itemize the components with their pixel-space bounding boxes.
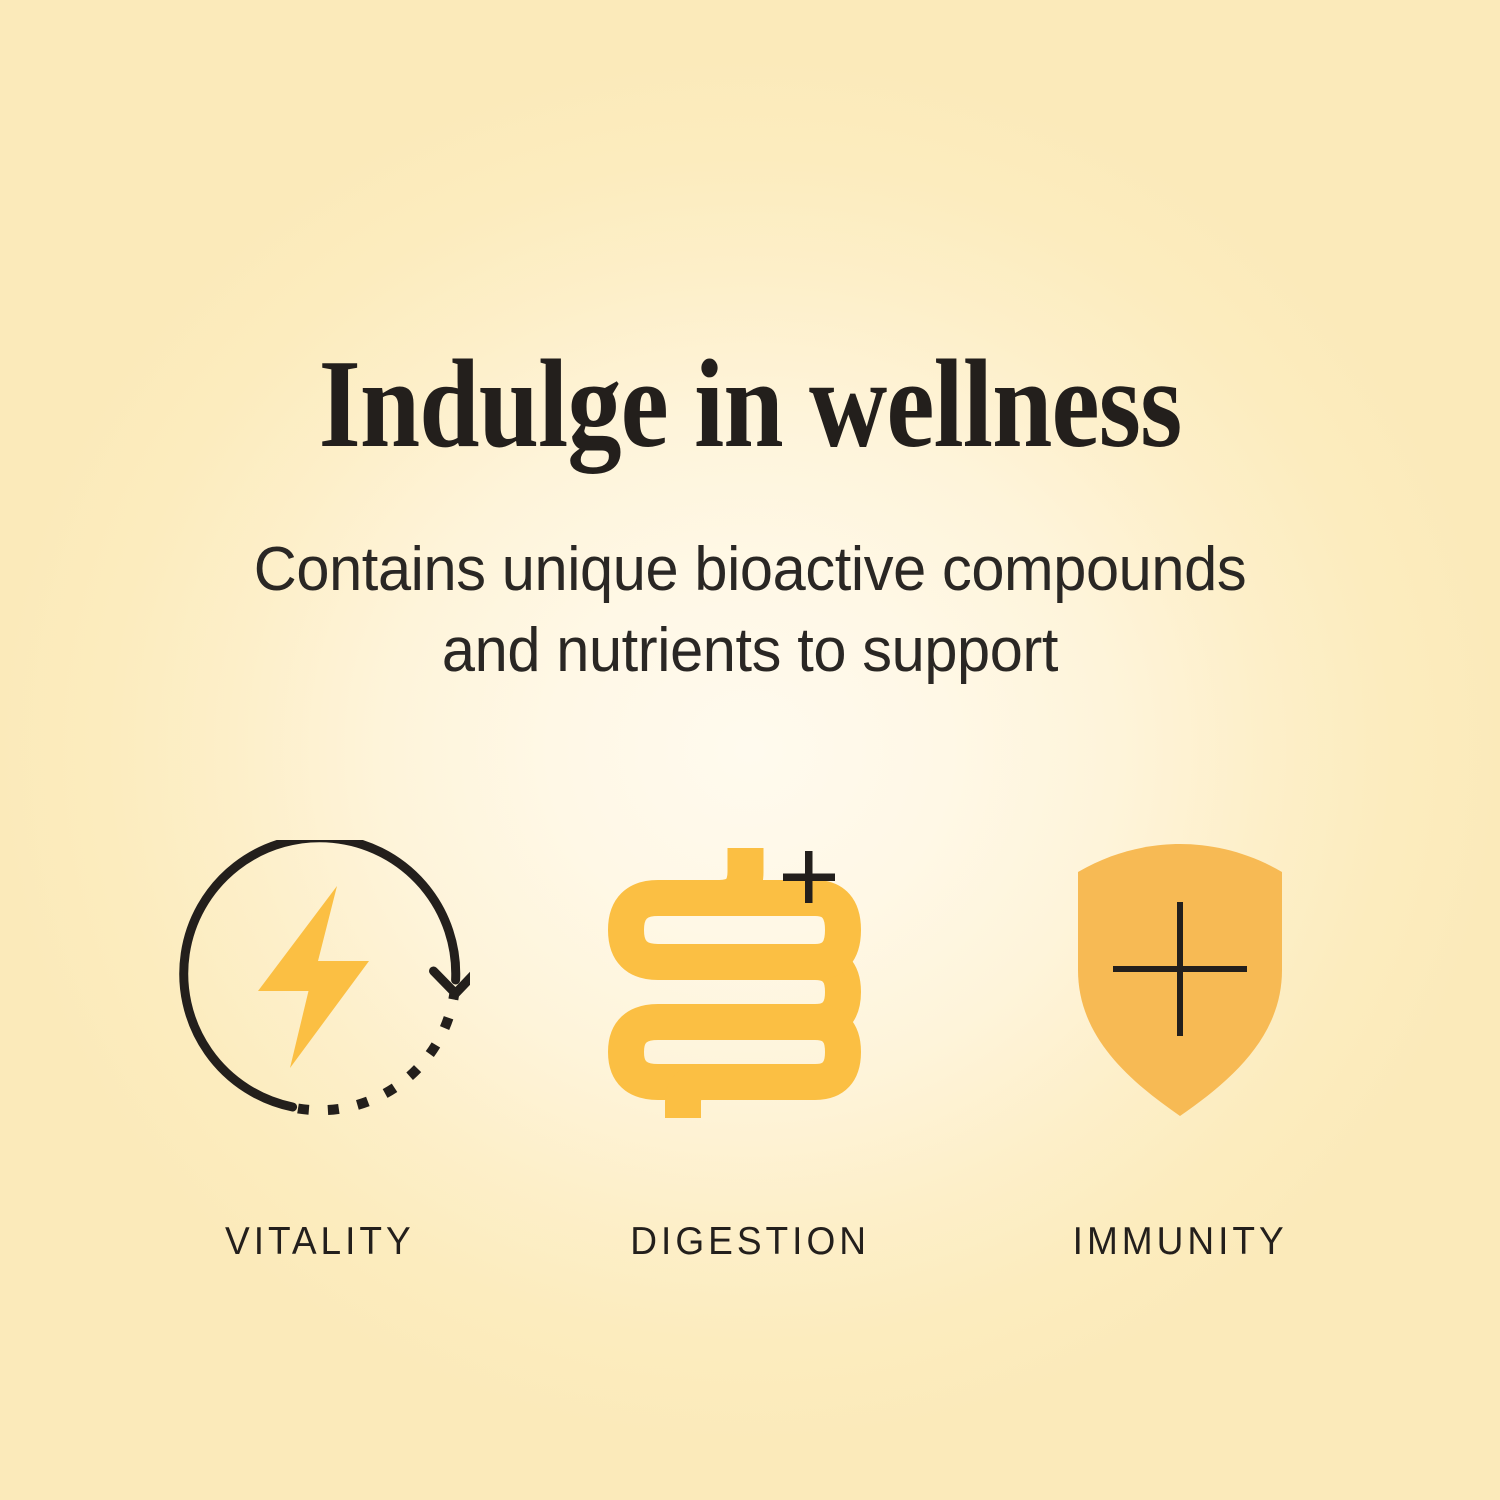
benefit-item-digestion: DIGESTION: [580, 840, 920, 1264]
benefits-row: VITALITY DIGESTION: [150, 840, 1350, 1264]
page-subtitle-line-1: Contains unique bioactive compounds: [145, 530, 1355, 611]
page-subtitle: Contains unique bioactive compounds and …: [120, 530, 1380, 691]
benefit-label-digestion: DIGESTION: [630, 1220, 870, 1264]
benefit-art-digestion: [600, 840, 900, 1120]
benefit-item-vitality: VITALITY: [150, 840, 490, 1264]
page-title: Indulge in wellness: [105, 342, 1395, 468]
lightning-bolt-in-refresh-circle-icon: [170, 840, 470, 1120]
benefit-label-immunity: IMMUNITY: [1072, 1220, 1287, 1264]
benefit-item-immunity: IMMUNITY: [1010, 840, 1350, 1264]
shield-plus-icon: [1030, 840, 1330, 1120]
benefit-art-immunity: [1030, 840, 1330, 1120]
intestine-plus-icon: [600, 840, 900, 1120]
wellness-benefits-poster: Indulge in wellness Contains unique bioa…: [0, 0, 1500, 1500]
benefit-label-vitality: VITALITY: [225, 1220, 415, 1264]
benefit-art-vitality: [170, 840, 470, 1120]
page-subtitle-line-2: and nutrients to support: [145, 611, 1355, 692]
